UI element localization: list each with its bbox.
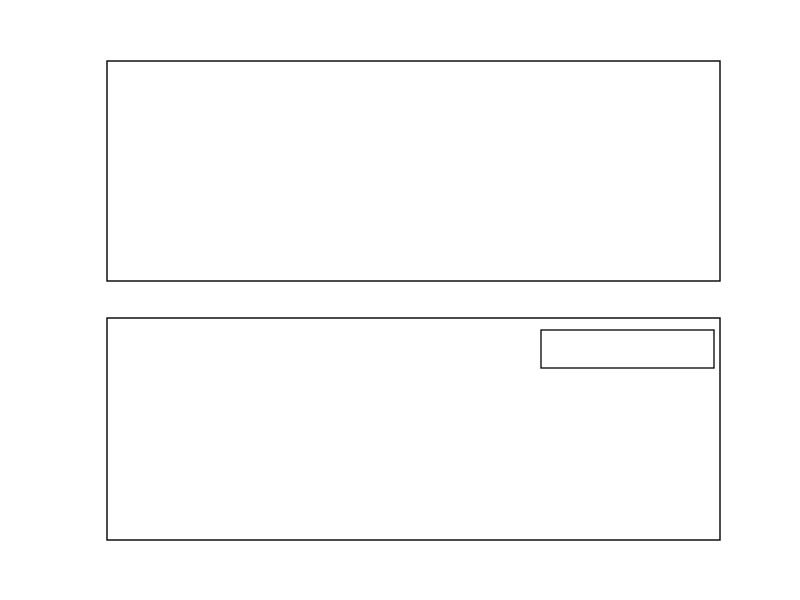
matplotlib-figure	[0, 0, 800, 600]
figure-canvas	[0, 0, 800, 600]
legend[interactable]	[541, 330, 714, 368]
legend-frame	[541, 330, 714, 368]
figure-background	[0, 0, 800, 600]
